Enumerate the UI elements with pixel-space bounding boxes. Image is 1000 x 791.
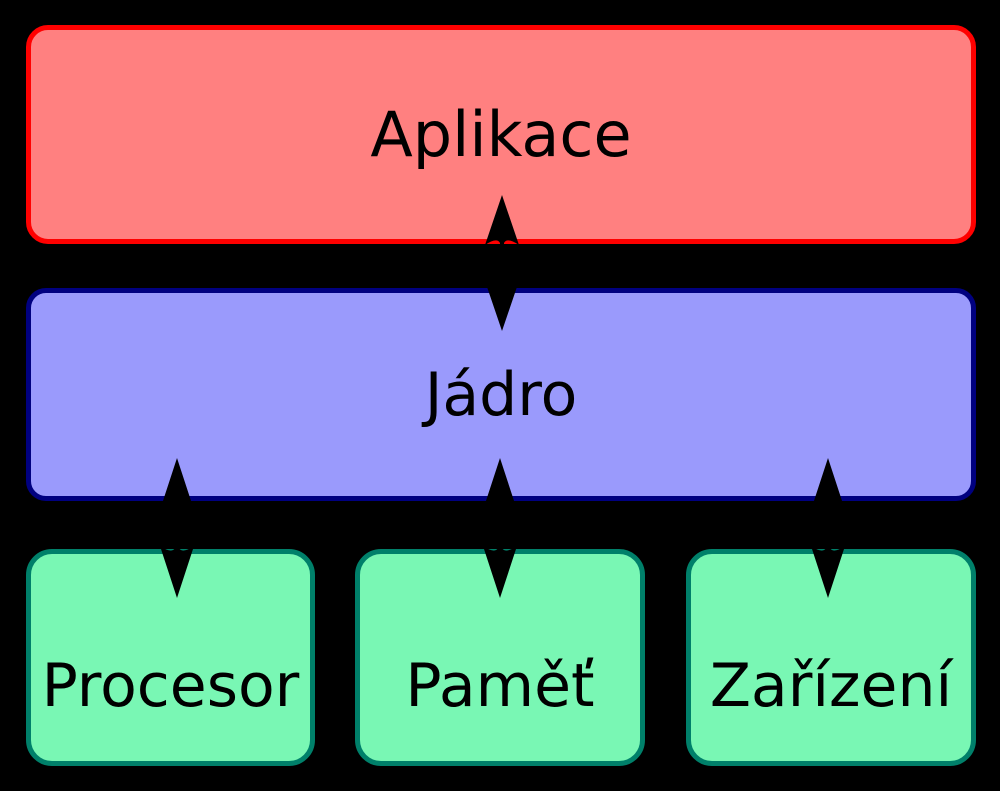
connector-kernel-memory-double-arrow bbox=[473, 456, 527, 600]
connector-kernel-processor-double-arrow bbox=[150, 456, 204, 600]
hardware-label-device: Zařízení bbox=[710, 656, 952, 716]
connector-kernel-device-double-arrow bbox=[801, 456, 855, 600]
hardware-label-memory: Paměť bbox=[405, 656, 594, 716]
diagram-canvas: Aplikace Jádro Procesor Paměť Zařízení bbox=[0, 0, 1000, 791]
application-layer-label: Aplikace bbox=[370, 104, 631, 166]
kernel-layer-label: Jádro bbox=[425, 365, 578, 425]
connector-application-kernel-double-arrow bbox=[475, 193, 529, 333]
hardware-label-processor: Procesor bbox=[42, 656, 300, 716]
